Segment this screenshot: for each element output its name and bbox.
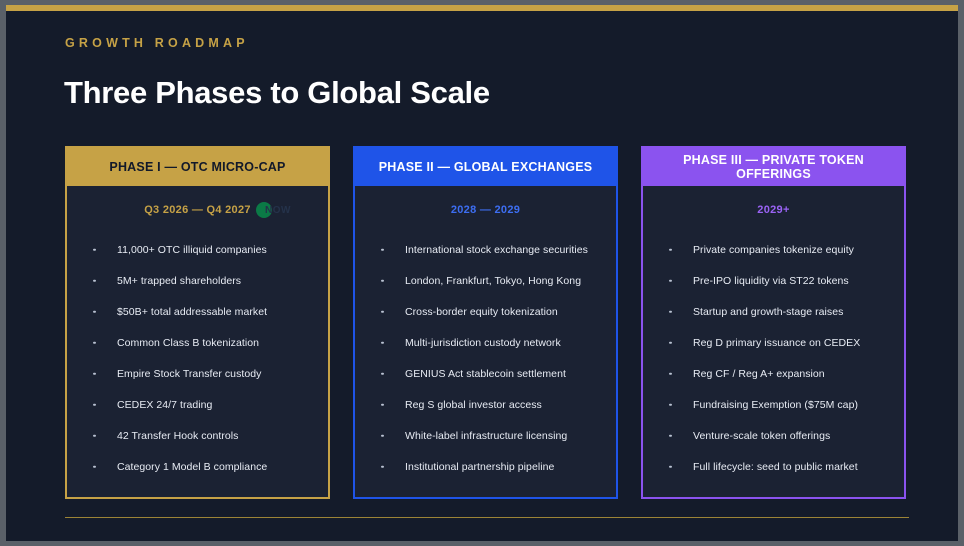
phase-card-3-date: 2029+ (757, 204, 789, 216)
bullet-dot-icon (381, 465, 384, 468)
list-item: CEDEX 24/7 trading (67, 389, 328, 420)
bullet-dot-icon (669, 434, 672, 437)
phase-card-3-bullets: Private companies tokenize equity Pre-IP… (643, 234, 904, 482)
phase-card-1: PHASE I — OTC MICRO-CAP Q3 2026 — Q4 202… (65, 146, 330, 499)
bullet-dot-icon (93, 279, 96, 282)
list-item: $50B+ total addressable market (67, 296, 328, 327)
list-item: GENIUS Act stablecoin settlement (355, 358, 616, 389)
list-item: White-label infrastructure licensing (355, 420, 616, 451)
list-item: Startup and growth-stage raises (643, 296, 904, 327)
slide-frame: GROWTH ROADMAP Three Phases to Global Sc… (6, 5, 958, 541)
list-item-label: Pre-IPO liquidity via ST22 tokens (693, 275, 849, 287)
phase-card-3-header: PHASE III — PRIVATE TOKEN OFFERINGS (643, 148, 904, 186)
bullet-dot-icon (669, 248, 672, 251)
list-item: 42 Transfer Hook controls (67, 420, 328, 451)
bullet-dot-icon (669, 465, 672, 468)
list-item: 11,000+ OTC illiquid companies (67, 234, 328, 265)
top-accent-bar (6, 5, 958, 11)
phase-card-1-date: Q3 2026 — Q4 2027 (144, 204, 251, 216)
bullet-dot-icon (93, 341, 96, 344)
phase-card-3: PHASE III — PRIVATE TOKEN OFFERINGS 2029… (641, 146, 906, 499)
list-item-label: Full lifecycle: seed to public market (693, 461, 858, 473)
list-item-label: Common Class B tokenization (117, 337, 259, 349)
list-item-label: Private companies tokenize equity (693, 244, 854, 256)
list-item: Venture-scale token offerings (643, 420, 904, 451)
list-item-label: Cross-border equity tokenization (405, 306, 558, 318)
list-item: International stock exchange securities (355, 234, 616, 265)
bottom-divider (65, 517, 909, 518)
phase-card-2-header: PHASE II — GLOBAL EXCHANGES (355, 148, 616, 186)
list-item: Multi-jurisdiction custody network (355, 327, 616, 358)
list-item-label: White-label infrastructure licensing (405, 430, 567, 442)
list-item-label: Startup and growth-stage raises (693, 306, 843, 318)
bullet-dot-icon (669, 279, 672, 282)
list-item-label: Category 1 Model B compliance (117, 461, 267, 473)
bullet-dot-icon (669, 372, 672, 375)
phase-card-1-bullets: 11,000+ OTC illiquid companies 5M+ trapp… (67, 234, 328, 482)
list-item: London, Frankfurt, Tokyo, Hong Kong (355, 265, 616, 296)
list-item-label: Reg S global investor access (405, 399, 542, 411)
bullet-dot-icon (381, 310, 384, 313)
list-item-label: International stock exchange securities (405, 244, 588, 256)
bullet-dot-icon (93, 372, 96, 375)
bullet-dot-icon (669, 310, 672, 313)
status-badge: NOW (256, 200, 291, 220)
list-item-label: 11,000+ OTC illiquid companies (117, 244, 267, 256)
phase-card-3-daterow: 2029+ (643, 200, 904, 220)
list-item-label: $50B+ total addressable market (117, 306, 267, 318)
bullet-dot-icon (381, 248, 384, 251)
page-title: Three Phases to Global Scale (64, 75, 490, 111)
bullet-dot-icon (381, 372, 384, 375)
list-item-label: Multi-jurisdiction custody network (405, 337, 561, 349)
bullet-dot-icon (93, 403, 96, 406)
list-item-label: London, Frankfurt, Tokyo, Hong Kong (405, 275, 581, 287)
list-item-label: Institutional partnership pipeline (405, 461, 554, 473)
list-item: Fundraising Exemption ($75M cap) (643, 389, 904, 420)
list-item: Common Class B tokenization (67, 327, 328, 358)
phase-card-2: PHASE II — GLOBAL EXCHANGES 2028 — 2029 … (353, 146, 618, 499)
phase-card-2-date: 2028 — 2029 (451, 204, 520, 216)
list-item: Full lifecycle: seed to public market (643, 451, 904, 482)
bullet-dot-icon (381, 279, 384, 282)
list-item: Pre-IPO liquidity via ST22 tokens (643, 265, 904, 296)
list-item-label: 42 Transfer Hook controls (117, 430, 238, 442)
bullet-dot-icon (381, 341, 384, 344)
eyebrow-label: GROWTH ROADMAP (65, 36, 249, 50)
list-item: Cross-border equity tokenization (355, 296, 616, 327)
bullet-dot-icon (93, 310, 96, 313)
list-item-label: Empire Stock Transfer custody (117, 368, 261, 380)
list-item: 5M+ trapped shareholders (67, 265, 328, 296)
list-item: Reg D primary issuance on CEDEX (643, 327, 904, 358)
bullet-dot-icon (669, 403, 672, 406)
list-item-label: GENIUS Act stablecoin settlement (405, 368, 566, 380)
status-badge-label: NOW (265, 205, 291, 216)
list-item-label: Reg CF / Reg A+ expansion (693, 368, 825, 380)
list-item-label: 5M+ trapped shareholders (117, 275, 241, 287)
list-item: Reg S global investor access (355, 389, 616, 420)
list-item: Empire Stock Transfer custody (67, 358, 328, 389)
bullet-dot-icon (93, 248, 96, 251)
list-item-label: Fundraising Exemption ($75M cap) (693, 399, 858, 411)
list-item: Private companies tokenize equity (643, 234, 904, 265)
bullet-dot-icon (381, 434, 384, 437)
list-item: Category 1 Model B compliance (67, 451, 328, 482)
bullet-dot-icon (669, 341, 672, 344)
phase-card-1-daterow: Q3 2026 — Q4 2027 NOW (67, 200, 328, 220)
list-item-label: Venture-scale token offerings (693, 430, 830, 442)
list-item-label: Reg D primary issuance on CEDEX (693, 337, 860, 349)
phase-card-1-header: PHASE I — OTC MICRO-CAP (67, 148, 328, 186)
list-item: Institutional partnership pipeline (355, 451, 616, 482)
bullet-dot-icon (93, 465, 96, 468)
phase-card-2-daterow: 2028 — 2029 (355, 200, 616, 220)
list-item-label: CEDEX 24/7 trading (117, 399, 212, 411)
phase-card-2-bullets: International stock exchange securities … (355, 234, 616, 482)
bullet-dot-icon (93, 434, 96, 437)
bullet-dot-icon (381, 403, 384, 406)
list-item: Reg CF / Reg A+ expansion (643, 358, 904, 389)
